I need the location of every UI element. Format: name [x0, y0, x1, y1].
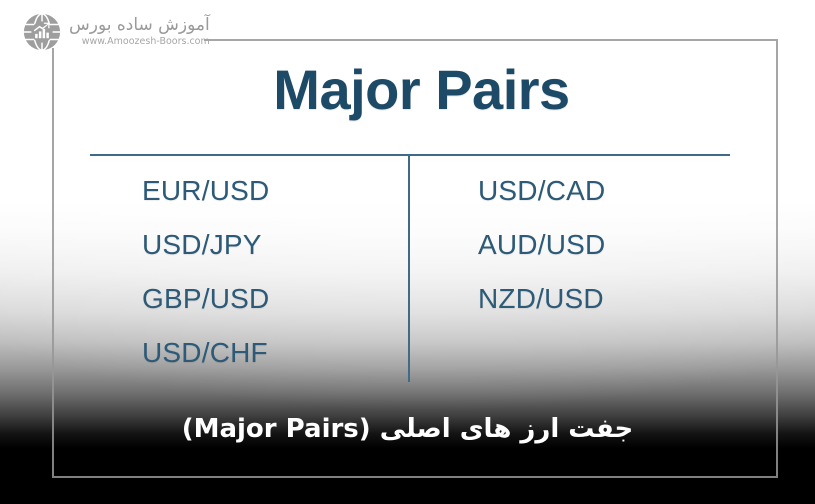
list-item: GBP/USD	[142, 272, 410, 326]
brand-name: آموزش ساده بورس	[69, 17, 210, 34]
list-item: AUD/USD	[478, 218, 730, 272]
brand-website: www.Amoozesh-Boors.com	[82, 37, 210, 47]
list-item: USD/CAD	[478, 164, 730, 218]
major-pairs-graphic: آموزش ساده بورس www.Amoozesh-Boors.com M…	[0, 0, 815, 504]
horizontal-divider	[90, 154, 730, 156]
currency-pairs-table: EUR/USD USD/JPY GBP/USD USD/CHF USD/CAD …	[90, 164, 730, 380]
list-item: USD/CHF	[142, 326, 410, 380]
list-item: NZD/USD	[478, 272, 730, 326]
caption-text: جفت ارز های اصلی (Major Pairs)	[0, 414, 815, 444]
pairs-column-left: EUR/USD USD/JPY GBP/USD USD/CHF	[90, 164, 410, 380]
list-item: EUR/USD	[142, 164, 410, 218]
globe-chart-icon	[22, 12, 62, 52]
page-title: Major Pairs	[0, 57, 815, 122]
list-item: USD/JPY	[142, 218, 410, 272]
pairs-column-right: USD/CAD AUD/USD NZD/USD	[410, 164, 730, 380]
brand-logo: آموزش ساده بورس www.Amoozesh-Boors.com	[22, 12, 210, 52]
brand-wordmark: آموزش ساده بورس www.Amoozesh-Boors.com	[69, 17, 210, 47]
